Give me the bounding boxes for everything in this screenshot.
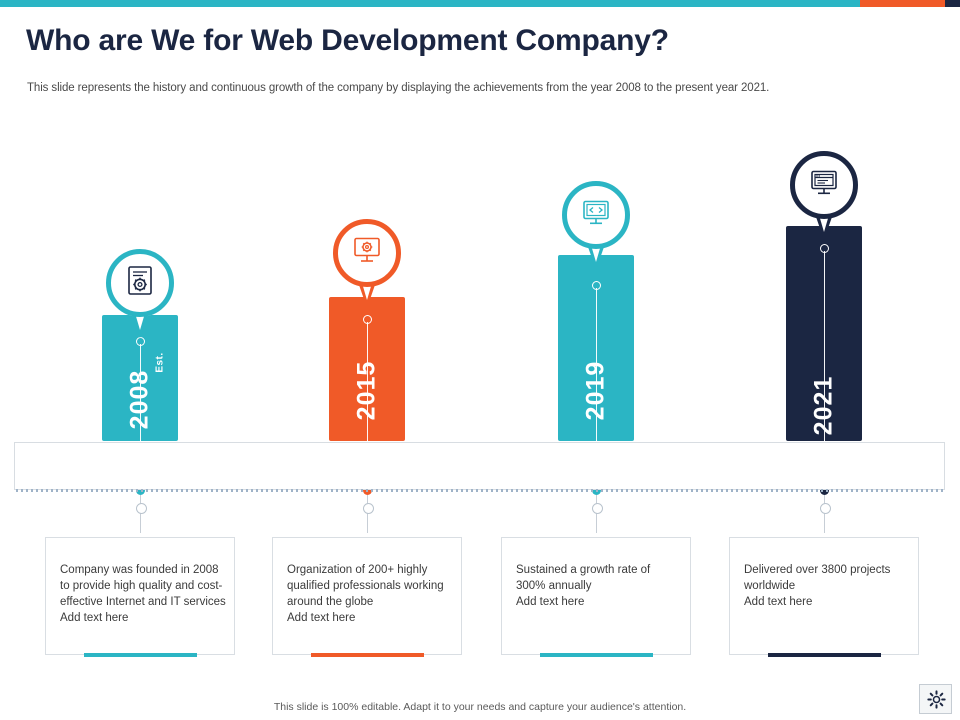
milestone-card-text-2015: Organization of 200+ highly qualified pr… [287, 562, 453, 626]
card-underline-2019 [540, 653, 653, 657]
timeline-stage: 2008 Est. [0, 0, 960, 720]
milestone-card-text-2019: Sustained a growth rate of 300% annually… [516, 562, 682, 610]
drop-line-2019 [596, 495, 597, 533]
bar-dot-2008 [136, 337, 145, 346]
milestone-pin-2019[interactable] [562, 181, 630, 249]
milestone-card-text-2008: Company was founded in 2008 to provide h… [60, 562, 226, 626]
milestone-card-2021: Delivered over 3800 projects worldwide A… [729, 537, 919, 655]
drop-line-2021 [824, 495, 825, 533]
milestone-pin-2021[interactable] [790, 151, 858, 219]
drop-ring-2019 [592, 503, 603, 514]
timeline-middle-band [14, 442, 945, 490]
monitor-code-icon [580, 198, 612, 233]
bar-dot-2015 [363, 315, 372, 324]
milestone-bar-2015: 2015 [329, 297, 405, 441]
drop-line-2008 [140, 495, 141, 533]
milestone-year-2008: 2008 [126, 370, 155, 430]
timeline-rail [16, 489, 944, 492]
bar-dot-2019 [592, 281, 601, 290]
milestone-card-2015: Organization of 200+ highly qualified pr… [272, 537, 462, 655]
milestone-bar-2021: 2021 [786, 226, 862, 441]
milestone-year-2021: 2021 [810, 376, 839, 436]
milestone-pin-2015[interactable] [333, 219, 401, 287]
gear-icon [927, 690, 946, 709]
gear-document-icon [124, 266, 156, 301]
milestone-est-2008: Est. [155, 352, 166, 372]
milestone-card-2019: Sustained a growth rate of 300% annually… [501, 537, 691, 655]
footer-note: This slide is 100% editable. Adapt it to… [0, 701, 960, 713]
milestone-card-2008: Company was founded in 2008 to provide h… [45, 537, 235, 655]
drop-ring-2008 [136, 503, 147, 514]
bar-dot-2021 [820, 244, 829, 253]
settings-button[interactable] [919, 684, 952, 714]
monitor-gear-icon [351, 236, 383, 271]
milestone-bar-2019: 2019 [558, 255, 634, 441]
monitor-window-icon [808, 168, 840, 203]
milestone-year-2019: 2019 [582, 361, 611, 421]
drop-ring-2015 [363, 503, 374, 514]
milestone-year-2015: 2015 [353, 361, 382, 421]
card-underline-2008 [84, 653, 197, 657]
drop-line-2015 [367, 495, 368, 533]
card-underline-2015 [311, 653, 424, 657]
drop-ring-2021 [820, 503, 831, 514]
milestone-card-text-2021: Delivered over 3800 projects worldwide A… [744, 562, 910, 610]
milestone-pin-2008[interactable] [106, 249, 174, 317]
card-underline-2021 [768, 653, 881, 657]
